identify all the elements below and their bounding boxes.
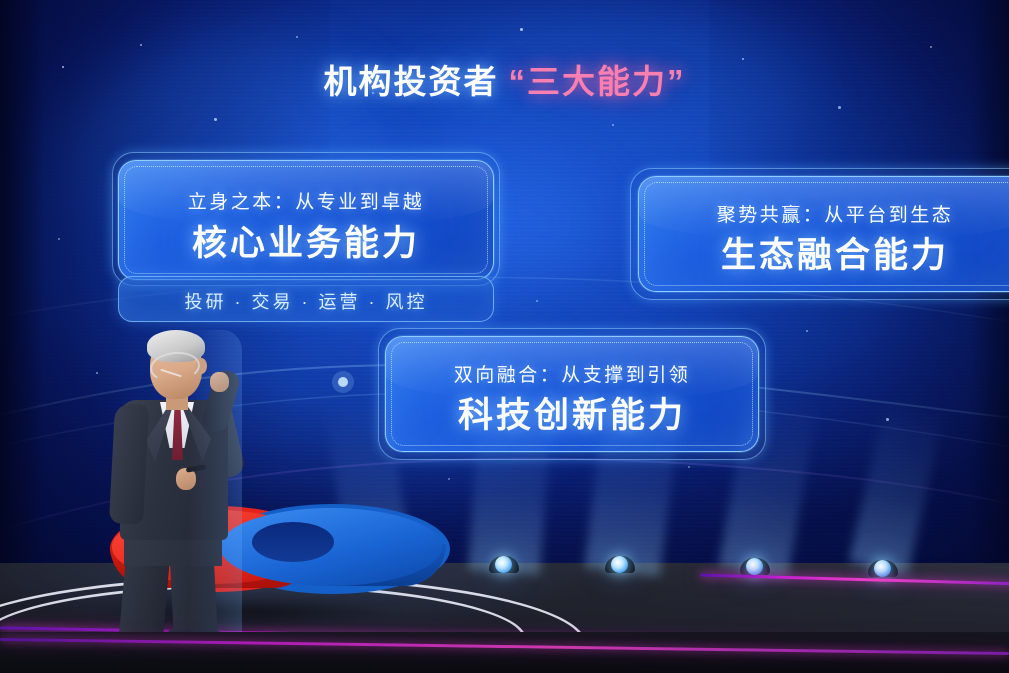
card-core-business-footer-panel[interactable]: 投研 · 交易 · 运营 · 风控: [118, 276, 494, 322]
presentation-stage-photo: 机构投资者“三大能力” 立身之本：从专业到卓越 核心业务能力 投研 · 交易 ·…: [0, 0, 1009, 673]
card-ecosystem[interactable]: 聚势共赢：从平台到生态 生态融合能力: [638, 176, 1009, 292]
slide-title: 机构投资者“三大能力”: [0, 62, 1009, 102]
card-technology[interactable]: 双向融合：从支撑到引领 科技创新能力: [385, 336, 759, 452]
card-ecosystem-subtitle: 聚势共赢：从平台到生态: [639, 200, 1009, 227]
sculpture-inner-opening: [252, 522, 334, 562]
stage-uplight-bulb: [611, 556, 628, 573]
card-technology-heading: 科技创新能力: [386, 387, 758, 438]
speaker-arm-left: [109, 403, 149, 525]
stage-uplight-bulb: [874, 560, 891, 577]
card-ecosystem-heading: 生态融合能力: [639, 227, 1009, 278]
stage-uplight-bulb: [495, 556, 512, 573]
card-technology-subtitle: 双向融合：从支撑到引领: [386, 360, 758, 387]
card-core-business[interactable]: 立身之本：从专业到卓越 核心业务能力: [118, 160, 494, 280]
slide-title-highlight: “三大能力”: [509, 63, 686, 100]
card-core-business-heading: 核心业务能力: [119, 215, 493, 266]
card-core-business-footer-text: 投研 · 交易 · 运营 · 风控: [119, 288, 493, 314]
card-core-business-subtitle: 立身之本：从专业到卓越: [119, 187, 493, 214]
stage-uplight-bulb: [746, 558, 763, 575]
speaker-hand-right-raised: [210, 372, 229, 392]
slide-title-primary: 机构投资者: [324, 63, 499, 100]
